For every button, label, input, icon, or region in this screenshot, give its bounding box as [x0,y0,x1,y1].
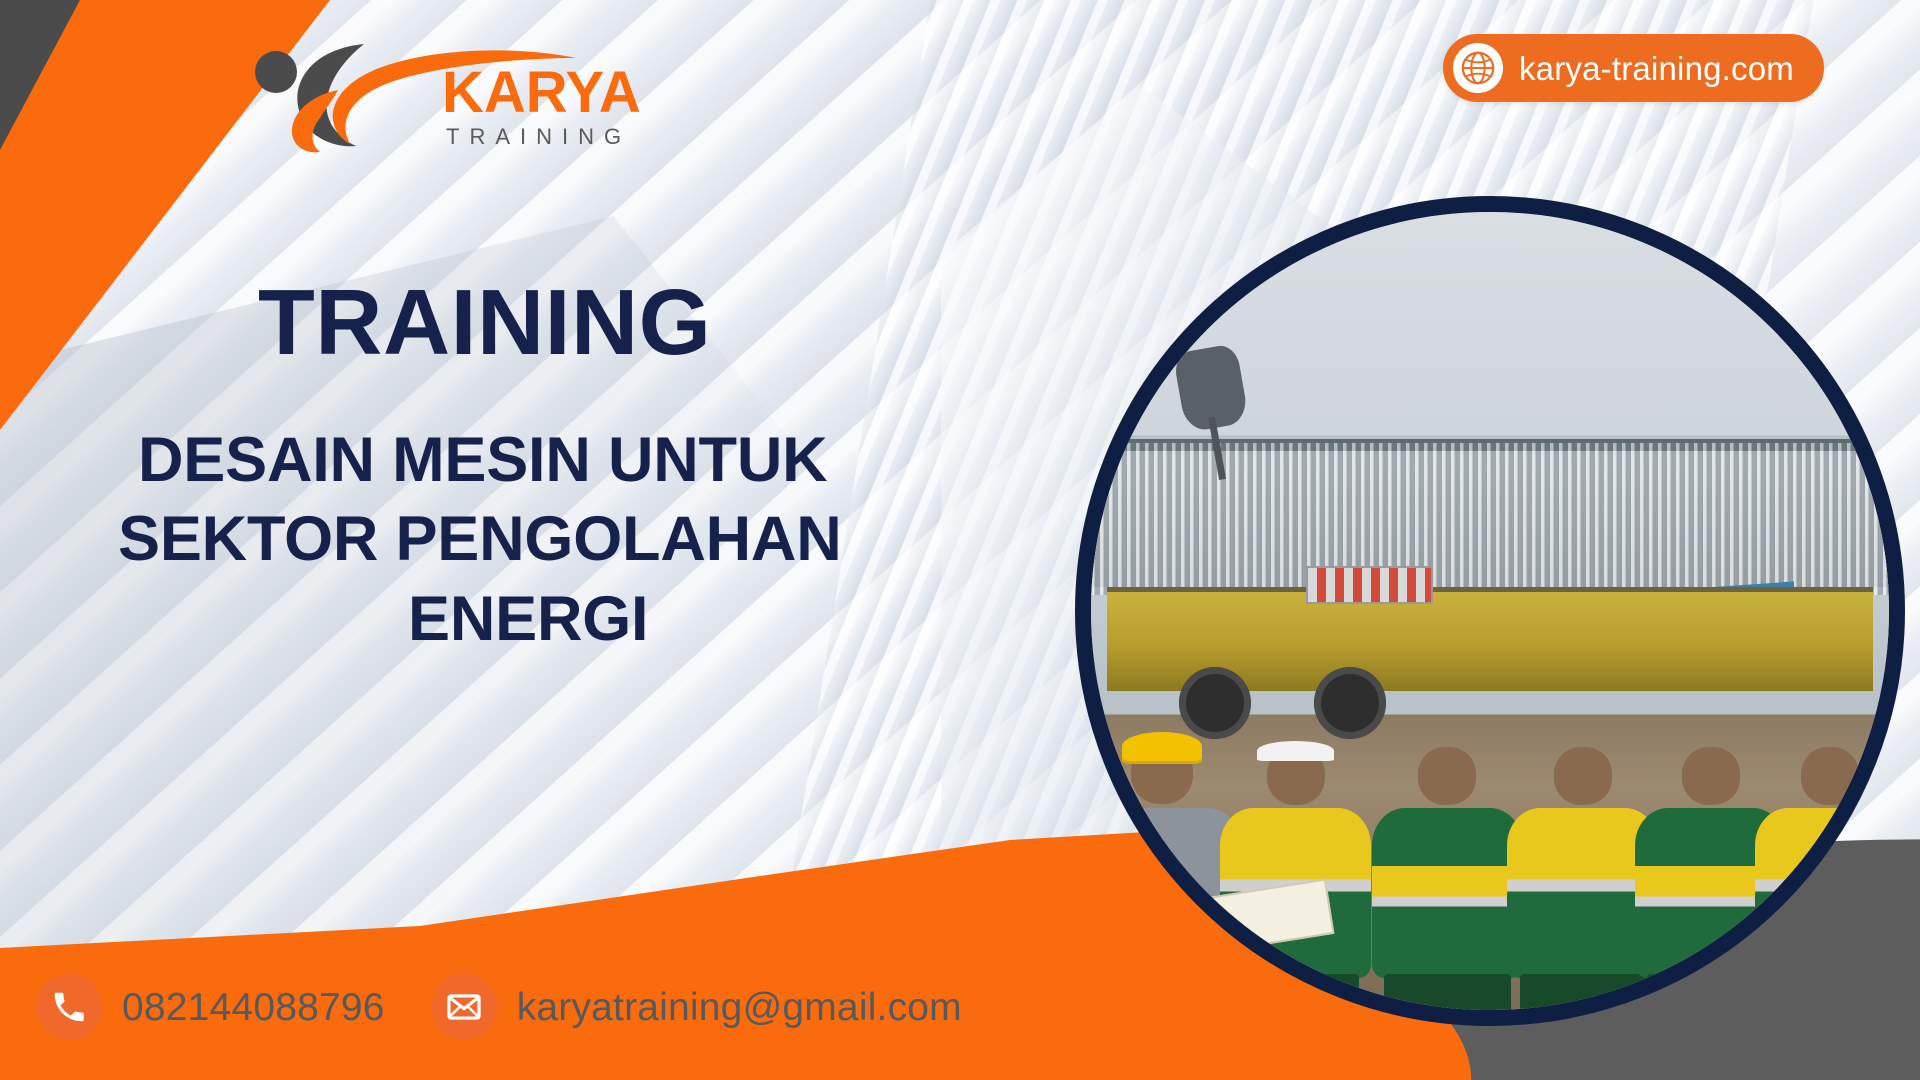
contact-email[interactable]: karyatraining@gmail.com [431,974,962,1040]
truck-wheel [1314,667,1386,739]
worker-figure [1801,747,1859,978]
photo-scene [1091,212,1889,1010]
worker-head [1682,747,1740,805]
logo-dot [255,51,297,93]
page-title: TRAINING [258,276,842,369]
logo-tagline: TRAINING [446,124,631,149]
worker-figure [1682,747,1740,978]
cap-icon [1257,741,1334,761]
worker-body [1081,808,1242,978]
subtitle-line-2: SEKTOR PENGOLAHAN [118,500,842,579]
website-url: karya-training.com [1519,52,1794,85]
email-address: karyatraining@gmail.com [517,988,962,1027]
truck-wheel [1179,667,1251,739]
subtitle-line-1: DESAIN MESIN UNTUK [138,421,842,500]
logo-wordmark: KARYA [442,60,641,125]
brand-logo[interactable]: KARYA TRAINING [246,36,676,166]
subtitle-line-3: ENERGI [408,580,842,659]
hard-hat-icon [1122,732,1201,761]
truck-mirror [1172,343,1249,433]
page-subtitle: DESAIN MESIN UNTUK SEKTOR PENGOLAHAN ENE… [258,421,842,659]
phone-icon [36,974,102,1040]
worker-figure [1418,747,1476,978]
worker-figure [1554,747,1612,978]
worker-figure [1267,747,1325,978]
phone-number: 082144088796 [122,988,385,1027]
website-badge[interactable]: karya-training.com [1443,34,1824,102]
worker-body [1372,808,1523,978]
worker-head [1418,747,1476,805]
contact-bar: 082144088796 karyatraining@gmail.com [36,974,962,1040]
contact-phone[interactable]: 082144088796 [36,974,385,1040]
worker-head [1801,747,1859,805]
envelope-icon [431,974,497,1040]
headline-block: TRAINING DESAIN MESIN UNTUK SEKTOR PENGO… [258,276,842,659]
worker-body [1755,808,1905,978]
globe-icon [1453,43,1503,93]
hero-photo [1075,196,1905,1026]
worker-head [1554,747,1612,805]
promo-banner: KARYA TRAINING karya-training.com TRAINI… [0,0,1920,1080]
